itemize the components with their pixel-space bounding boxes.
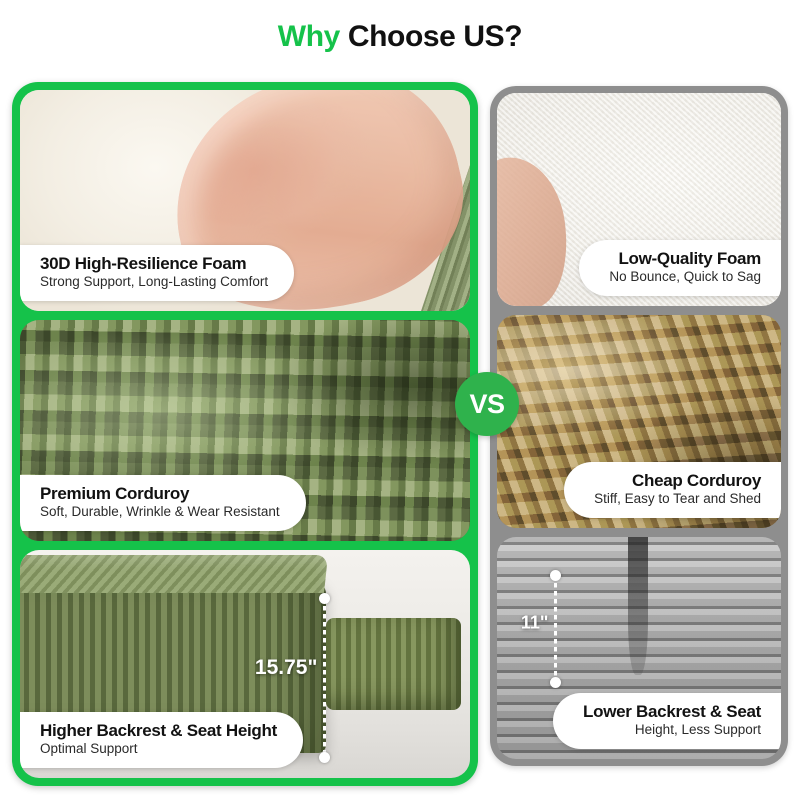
panel-good-inner: 30D High-Resilience Foam Strong Support,…: [20, 90, 470, 778]
label-subtitle: Stiff, Easy to Tear and Shed: [594, 491, 761, 508]
label-title: Higher Backrest & Seat Height: [40, 721, 277, 740]
label-good-height: Higher Backrest & Seat Height Optimal Su…: [20, 712, 303, 768]
measurement-value: 15.75": [255, 656, 318, 680]
measurement-dot-top: [550, 570, 561, 581]
tile-bad-height[interactable]: 11" Lower Backrest & Seat Height, Less S…: [497, 537, 781, 759]
label-good-corduroy: Premium Corduroy Soft, Durable, Wrinkle …: [20, 475, 306, 531]
label-title: Cheap Corduroy: [594, 471, 761, 490]
label-subtitle: Optimal Support: [40, 741, 277, 758]
measurement-bad-height: 11": [549, 575, 561, 683]
label-title: Premium Corduroy: [40, 484, 280, 503]
measurement-good-height: 15.75": [318, 598, 330, 758]
page-title-accent: Why: [278, 20, 340, 53]
tile-good-foam[interactable]: 30D High-Resilience Foam Strong Support,…: [20, 90, 470, 311]
tile-good-height[interactable]: 15.75" Higher Backrest & Seat Height Opt…: [20, 550, 470, 778]
panel-good: 30D High-Resilience Foam Strong Support,…: [12, 82, 478, 786]
tile-bad-foam[interactable]: Low-Quality Foam No Bounce, Quick to Sag: [497, 93, 781, 306]
panel-bad-inner: Low-Quality Foam No Bounce, Quick to Sag…: [497, 93, 781, 759]
measurement-dot-bottom: [319, 752, 330, 763]
tile-bad-corduroy[interactable]: Cheap Corduroy Stiff, Easy to Tear and S…: [497, 315, 781, 528]
measurement-dotted-line: [323, 598, 326, 758]
measurement-dotted-line: [554, 575, 557, 683]
label-bad-height: Lower Backrest & Seat Height, Less Suppo…: [553, 693, 781, 749]
label-title: Low-Quality Foam: [609, 249, 761, 268]
label-bad-corduroy: Cheap Corduroy Stiff, Easy to Tear and S…: [564, 462, 781, 518]
vs-badge: VS: [455, 372, 519, 436]
page-title: Why Choose US?: [0, 20, 800, 54]
measurement-dot-bottom: [550, 677, 561, 688]
page-title-rest: Choose US?: [340, 20, 522, 53]
label-bad-foam: Low-Quality Foam No Bounce, Quick to Sag: [579, 240, 781, 296]
panel-bad: Low-Quality Foam No Bounce, Quick to Sag…: [490, 86, 788, 766]
measurement-dot-top: [319, 593, 330, 604]
tile-good-corduroy[interactable]: Premium Corduroy Soft, Durable, Wrinkle …: [20, 320, 470, 541]
label-subtitle: Soft, Durable, Wrinkle & Wear Resistant: [40, 504, 280, 521]
label-subtitle: No Bounce, Quick to Sag: [609, 269, 761, 286]
label-title: Lower Backrest & Seat: [583, 702, 761, 721]
label-title: 30D High-Resilience Foam: [40, 254, 268, 273]
comparison-board: 30D High-Resilience Foam Strong Support,…: [12, 82, 788, 788]
label-subtitle: Height, Less Support: [583, 722, 761, 739]
label-good-foam: 30D High-Resilience Foam Strong Support,…: [20, 245, 294, 301]
measurement-value: 11": [521, 612, 549, 633]
label-subtitle: Strong Support, Long-Lasting Comfort: [40, 274, 268, 291]
ottoman-backrest-shape: [326, 618, 461, 709]
